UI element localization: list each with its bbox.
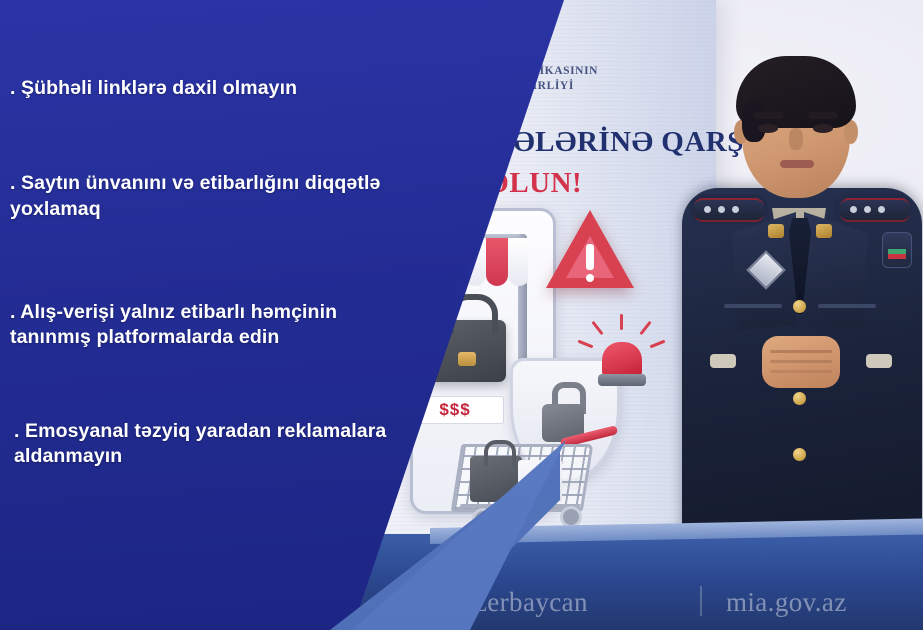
officer-eye-right bbox=[813, 124, 833, 133]
officer-mouth bbox=[780, 160, 814, 168]
officer-eyebrow-left bbox=[754, 112, 784, 119]
officer-epaulette-left bbox=[694, 198, 764, 222]
officer-collar-insignia-left bbox=[768, 224, 784, 238]
officer-nose bbox=[789, 128, 803, 150]
officer-button bbox=[793, 448, 806, 461]
officer-pocket-left bbox=[724, 304, 782, 308]
warning-exclamation-bar bbox=[586, 244, 594, 270]
officer-cuff-right bbox=[866, 354, 892, 368]
officer-button bbox=[793, 392, 806, 405]
officer-button bbox=[793, 300, 806, 313]
officer-pocket-right bbox=[818, 304, 876, 308]
officer-eyebrow-right bbox=[808, 112, 838, 119]
officer-clasped-hands bbox=[762, 336, 840, 388]
safety-tips-list: . Şübhəli linklərə daxil olmayın . Saytı… bbox=[10, 72, 410, 479]
officer-epaulette-right bbox=[840, 198, 910, 222]
broadcast-frame: AZƏRBAYCAN RESPUBLİKASININ DAXİLİ İŞLƏR … bbox=[0, 0, 923, 630]
officer-flag-shoulder-patch bbox=[882, 232, 912, 268]
siren-light-icon bbox=[602, 342, 642, 376]
list-item: . Saytın ünvanını və etibarlığını diqqət… bbox=[10, 171, 410, 222]
list-item: . Emosyanal təzyiq yaradan reklamalara a… bbox=[10, 419, 410, 470]
list-item: . Alış-verişi yalnız etibarlı həmçinin t… bbox=[10, 300, 410, 351]
officer-eye-left bbox=[758, 124, 778, 133]
officer-collar-insignia-right bbox=[816, 224, 832, 238]
officer-cuff-left bbox=[710, 354, 736, 368]
warning-exclamation-dot bbox=[586, 274, 594, 282]
list-item: . Şübhəli linklərə daxil olmayın bbox=[10, 76, 410, 101]
siren-base bbox=[598, 374, 646, 386]
